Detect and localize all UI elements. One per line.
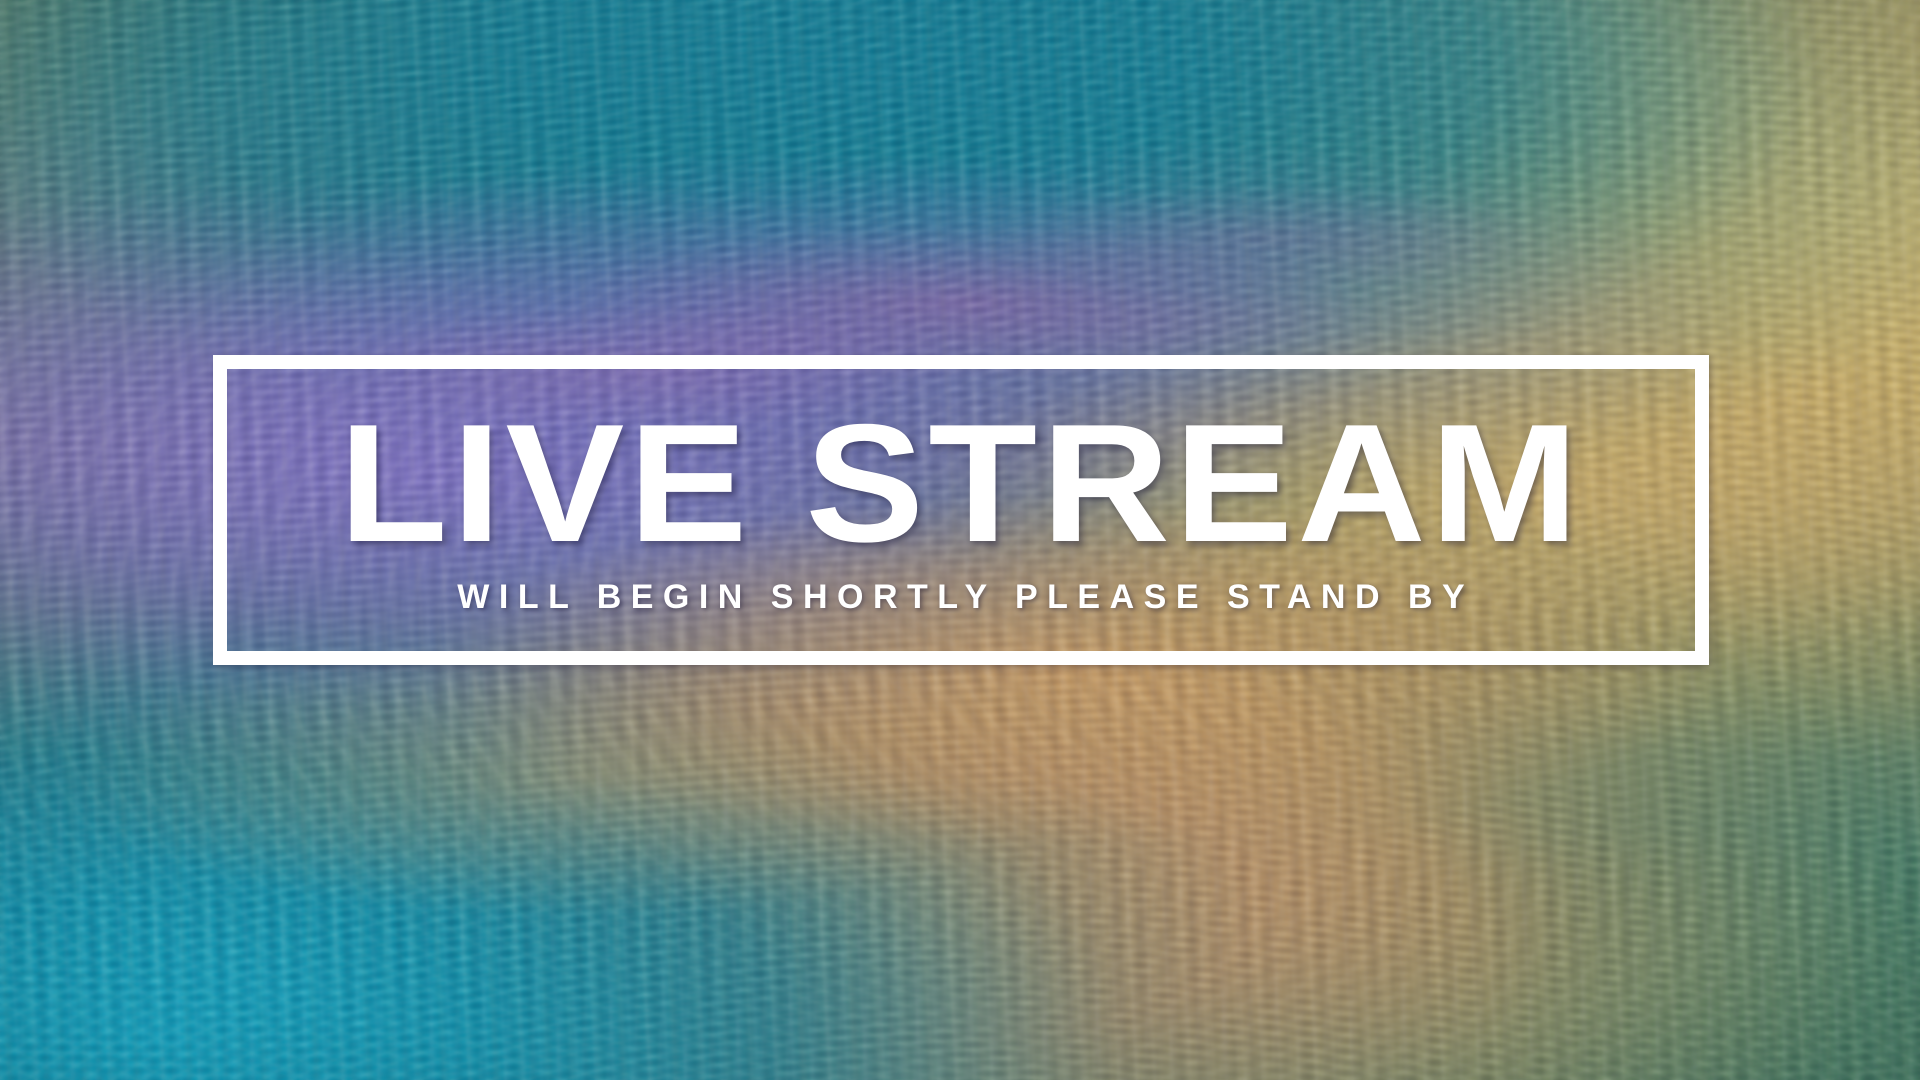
headline-frame: LIVE STREAM WILL BEGIN SHORTLY PLEASE ST…	[213, 355, 1709, 665]
slate-content: LIVE STREAM WILL BEGIN SHORTLY PLEASE ST…	[0, 0, 1920, 1080]
page-title: LIVE STREAM	[339, 406, 1583, 561]
standby-slate: LIVE STREAM WILL BEGIN SHORTLY PLEASE ST…	[0, 0, 1920, 1080]
standby-subtitle: WILL BEGIN SHORTLY PLEASE STAND BY	[448, 580, 1474, 614]
